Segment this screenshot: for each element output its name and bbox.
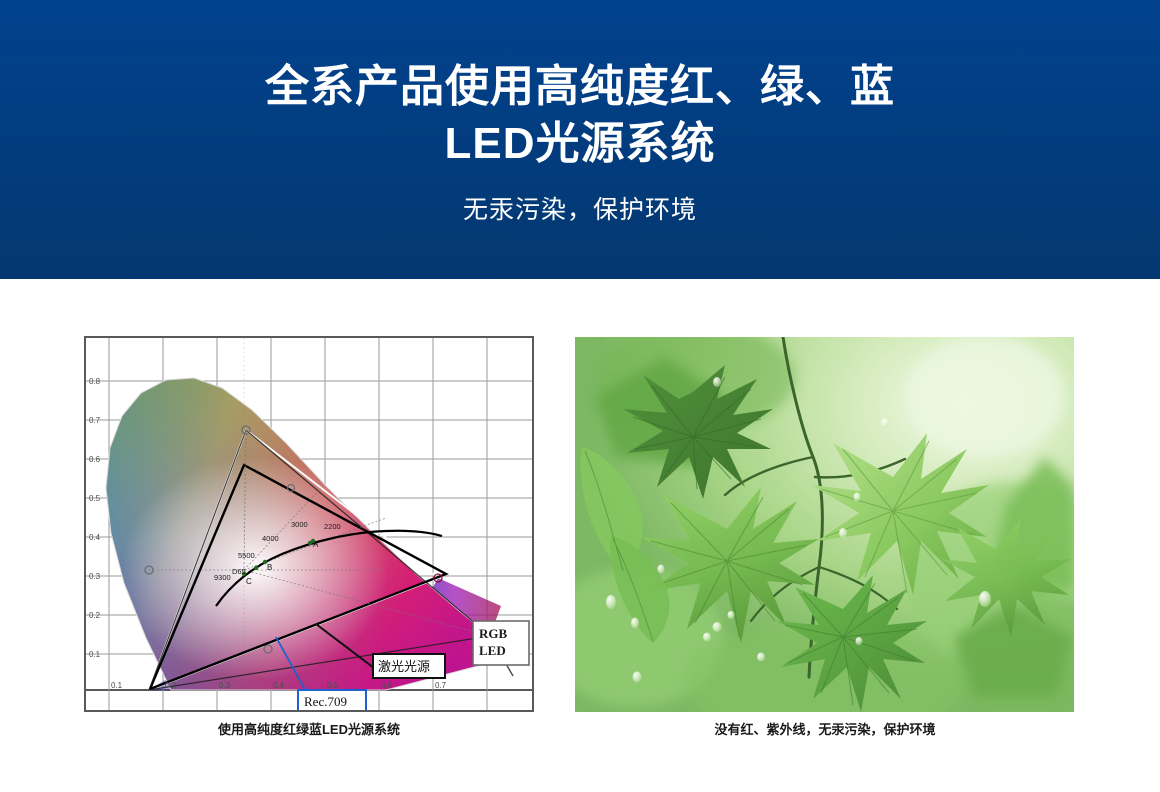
svg-text:0.1: 0.1	[89, 650, 101, 659]
ct-label-5500: 5500	[238, 551, 255, 560]
svg-text:0.5: 0.5	[327, 681, 339, 690]
y-axis-tick-labels: 0.8 0.7 0.6 0.5 0.4 0.3 0.2 0.1	[89, 377, 101, 659]
white-point-c: C	[246, 577, 252, 586]
callout-rgb-led[interactable]: RGB LED	[473, 621, 529, 665]
svg-text:0.3: 0.3	[219, 681, 231, 690]
ct-label-2200: 2200	[324, 522, 341, 531]
left-figure-caption: 使用高纯度红绿蓝LED光源系统	[84, 719, 534, 738]
svg-text:0.7: 0.7	[89, 416, 101, 425]
ct-label-3000: 3000	[291, 520, 308, 529]
callout-laser-source[interactable]: 激光光源	[373, 654, 445, 678]
svg-text:0.8: 0.8	[89, 377, 101, 386]
cie-chromaticity-chart: 2200 3000 4000 5500 9300 D65 A B C 0.8 0…	[84, 336, 534, 712]
ct-label-9300: 9300	[214, 573, 231, 582]
white-point-a: A	[313, 540, 319, 549]
svg-text:0.7: 0.7	[435, 681, 447, 690]
svg-text:0.5: 0.5	[89, 494, 101, 503]
page-title: 全系产品使用高纯度红、绿、蓝 LED光源系统	[0, 58, 1160, 172]
chart-svg: 2200 3000 4000 5500 9300 D65 A B C 0.8 0…	[86, 338, 532, 710]
page-subtitle: 无汞污染，保护环境	[0, 190, 1160, 226]
green-leaves-illustration	[575, 337, 1074, 712]
callout-rgb-led-line2: LED	[479, 643, 506, 658]
svg-text:0.4: 0.4	[273, 681, 285, 690]
svg-text:0.4: 0.4	[89, 533, 101, 542]
svg-text:0.6: 0.6	[381, 681, 393, 690]
svg-text:0.2: 0.2	[165, 681, 177, 690]
white-point-b: B	[267, 563, 272, 572]
svg-text:0.2: 0.2	[89, 611, 101, 620]
photo-haze	[575, 337, 1074, 712]
content-area: 2200 3000 4000 5500 9300 D65 A B C 0.8 0…	[0, 279, 1160, 792]
callout-rgb-led-line1: RGB	[479, 626, 508, 641]
header-banner: 全系产品使用高纯度红、绿、蓝 LED光源系统 无汞污染，保护环境	[0, 0, 1160, 279]
green-leaves-photo	[575, 337, 1074, 712]
svg-text:0.1: 0.1	[111, 681, 123, 690]
chart-frame: 2200 3000 4000 5500 9300 D65 A B C 0.8 0…	[84, 336, 534, 712]
callout-rec709-label: Rec.709	[304, 694, 347, 709]
callout-rec709[interactable]: Rec.709	[298, 690, 366, 710]
svg-text:0.6: 0.6	[89, 455, 101, 464]
ct-label-d65: D65	[232, 567, 246, 576]
ct-label-4000: 4000	[262, 534, 279, 543]
svg-text:0.3: 0.3	[89, 572, 101, 581]
callout-laser-source-label: 激光光源	[378, 659, 430, 674]
right-figure-caption: 没有红、紫外线，无汞污染，保护环境	[575, 719, 1075, 738]
